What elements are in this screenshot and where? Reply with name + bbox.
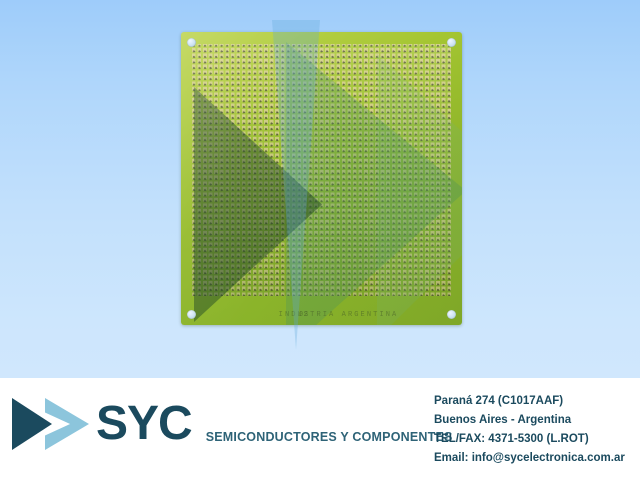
footer-bar: SYC SEMICONDUCTORES Y COMPONENTES Paraná… [0, 378, 640, 480]
contact-address-line1: Paraná 274 (C1017AAF) [434, 392, 640, 411]
contact-block: Paraná 274 (C1017AAF) Buenos Aires - Arg… [434, 392, 640, 468]
company-tagline: SEMICONDUCTORES Y COMPONENTES [206, 430, 453, 450]
mounting-hole-top-right [447, 38, 456, 47]
mounting-hole-top-left [187, 38, 196, 47]
perfboard-pcb: 02 INDUSTRIA ARGENTINA [181, 32, 462, 325]
company-logo: SYC SEMICONDUCTORES Y COMPONENTES [12, 398, 453, 450]
page-root: 02 INDUSTRIA ARGENTINA SYC SEMICONDUCTOR… [0, 0, 640, 480]
contact-address-line2: Buenos Aires - Argentina [434, 411, 640, 430]
silkscreen-origin-text: INDUSTRIA ARGENTINA [181, 311, 462, 319]
contact-email[interactable]: Email: info@sycelectronica.com.ar [434, 449, 640, 468]
solder-pad-grid [192, 44, 451, 296]
company-name: SYC [96, 400, 192, 448]
product-photo: 02 INDUSTRIA ARGENTINA [0, 0, 640, 378]
contact-phone: TEL/FAX: 4371-5300 (L.ROT) [434, 430, 640, 449]
double-chevron-icon [12, 398, 90, 450]
